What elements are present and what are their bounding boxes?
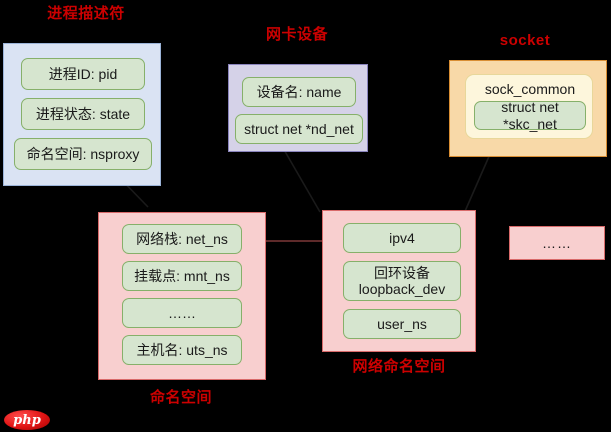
group-title-socket: socket	[487, 32, 563, 49]
box-more: ……	[509, 226, 605, 260]
group-net-device: 设备名: name struct net *nd_net	[228, 64, 368, 152]
group-title-net-namespace: 网络命名空间	[342, 355, 456, 376]
field-uts-ns[interactable]: 主机名: uts_ns	[122, 335, 242, 365]
php-logo-text: php	[4, 410, 50, 430]
field-user-ns[interactable]: user_ns	[343, 309, 461, 339]
field-nsproxy[interactable]: 命名空间: nsproxy	[14, 138, 152, 170]
field-nd-net[interactable]: struct net *nd_net	[235, 114, 363, 144]
field-ipv4[interactable]: ipv4	[343, 223, 461, 253]
group-title-process-descriptor: 进程描述符	[24, 2, 148, 23]
field-skc-net[interactable]: struct net *skc_net	[474, 101, 586, 130]
group-namespace: 网络栈: net_ns 挂载点: mnt_ns …… 主机名: uts_ns	[98, 212, 266, 380]
field-process-state[interactable]: 进程状态: state	[21, 98, 145, 130]
group-title-net-device: 网卡设备	[251, 23, 343, 44]
group-title-namespace: 命名空间	[131, 386, 231, 407]
group-process-descriptor: 进程ID: pid 进程状态: state 命名空间: nsproxy	[3, 43, 161, 186]
label-sock-common: sock_common	[466, 81, 594, 97]
group-net-namespace: ipv4 回环设备 loopback_dev user_ns	[322, 210, 476, 352]
field-mnt-ns[interactable]: 挂载点: mnt_ns	[122, 261, 242, 291]
field-loopback-dev[interactable]: 回环设备 loopback_dev	[343, 261, 461, 301]
field-process-id[interactable]: 进程ID: pid	[21, 58, 145, 90]
field-net-ns[interactable]: 网络栈: net_ns	[122, 224, 242, 254]
group-socket: sock_common struct net *skc_net	[449, 60, 607, 157]
diagram-canvas: 进程描述符 进程ID: pid 进程状态: state 命名空间: nsprox…	[0, 0, 611, 432]
php-logo-watermark: php	[4, 410, 50, 430]
subgroup-sock-common: sock_common struct net *skc_net	[465, 74, 593, 139]
field-namespace-more: ……	[122, 298, 242, 328]
field-device-name[interactable]: 设备名: name	[242, 77, 356, 107]
connector-ndnet-to-netnamespace	[283, 148, 320, 212]
